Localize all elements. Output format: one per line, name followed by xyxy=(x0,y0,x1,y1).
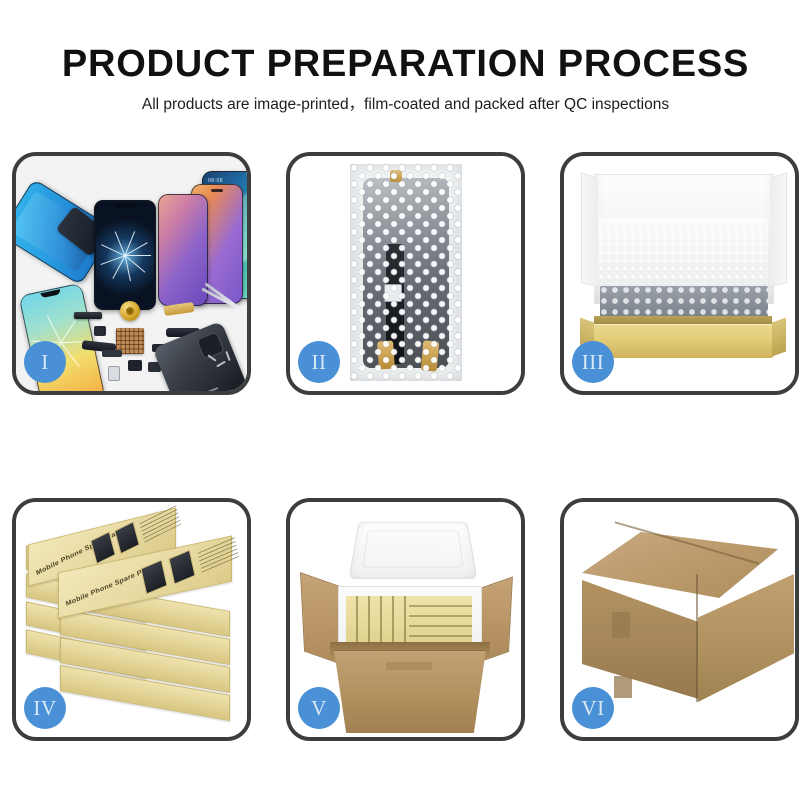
carton-vertical-edge xyxy=(696,574,698,702)
bubble-wrap-bag xyxy=(350,164,462,381)
step-numeral-3: III xyxy=(582,352,604,373)
steps-grid: 08:08 xyxy=(12,152,799,744)
step-numeral-4: IV xyxy=(33,698,56,719)
step-badge-2: II xyxy=(298,341,340,383)
carton-tape-lower xyxy=(614,676,632,698)
step-panel-2[interactable]: II xyxy=(286,152,525,395)
header: PRODUCT PREPARATION PROCESS All products… xyxy=(0,44,811,114)
step-numeral-1: I xyxy=(41,352,49,373)
small-part-7 xyxy=(102,350,122,357)
step-panel-6[interactable]: VI xyxy=(560,498,799,741)
cracked-glass-panel xyxy=(94,200,156,310)
crack-lines xyxy=(125,255,126,256)
step-numeral-2: II xyxy=(312,352,327,373)
screws-group xyxy=(207,353,237,377)
carton-tape-mark xyxy=(386,662,432,670)
foam-lid xyxy=(349,522,478,579)
tweezers-tool xyxy=(195,308,241,348)
step-panel-4[interactable]: Mobile Phone Spare Parts Mobile Phone Sp… xyxy=(12,498,251,741)
speaker-part xyxy=(74,312,102,319)
step-panel-5[interactable]: V xyxy=(286,498,525,741)
step-badge-3: III xyxy=(572,341,614,383)
carton-left-face xyxy=(582,580,702,700)
page-subtitle: All products are image-printed，film-coat… xyxy=(0,96,811,115)
step-numeral-5: V xyxy=(311,698,327,719)
box-front-wall xyxy=(592,324,774,358)
small-part-2 xyxy=(128,360,142,371)
foam-sheet xyxy=(598,218,768,284)
small-part-1 xyxy=(94,326,106,336)
infographic-page: PRODUCT PREPARATION PROCESS All products… xyxy=(0,0,811,811)
step-panel-3[interactable]: III xyxy=(560,152,799,395)
page-title: PRODUCT PREPARATION PROCESS xyxy=(0,44,811,86)
step-panel-1[interactable]: 08:08 xyxy=(12,152,251,395)
bubble-texture xyxy=(350,164,462,381)
step-badge-4: IV xyxy=(24,687,66,729)
small-part-5 xyxy=(108,366,120,381)
step-badge-5: V xyxy=(298,687,340,729)
vibration-motor-part xyxy=(120,301,140,321)
step-badge-1: I xyxy=(24,341,66,383)
carton-tape-upper xyxy=(612,612,630,638)
step-numeral-6: VI xyxy=(581,698,604,719)
step-badge-6: VI xyxy=(572,687,614,729)
